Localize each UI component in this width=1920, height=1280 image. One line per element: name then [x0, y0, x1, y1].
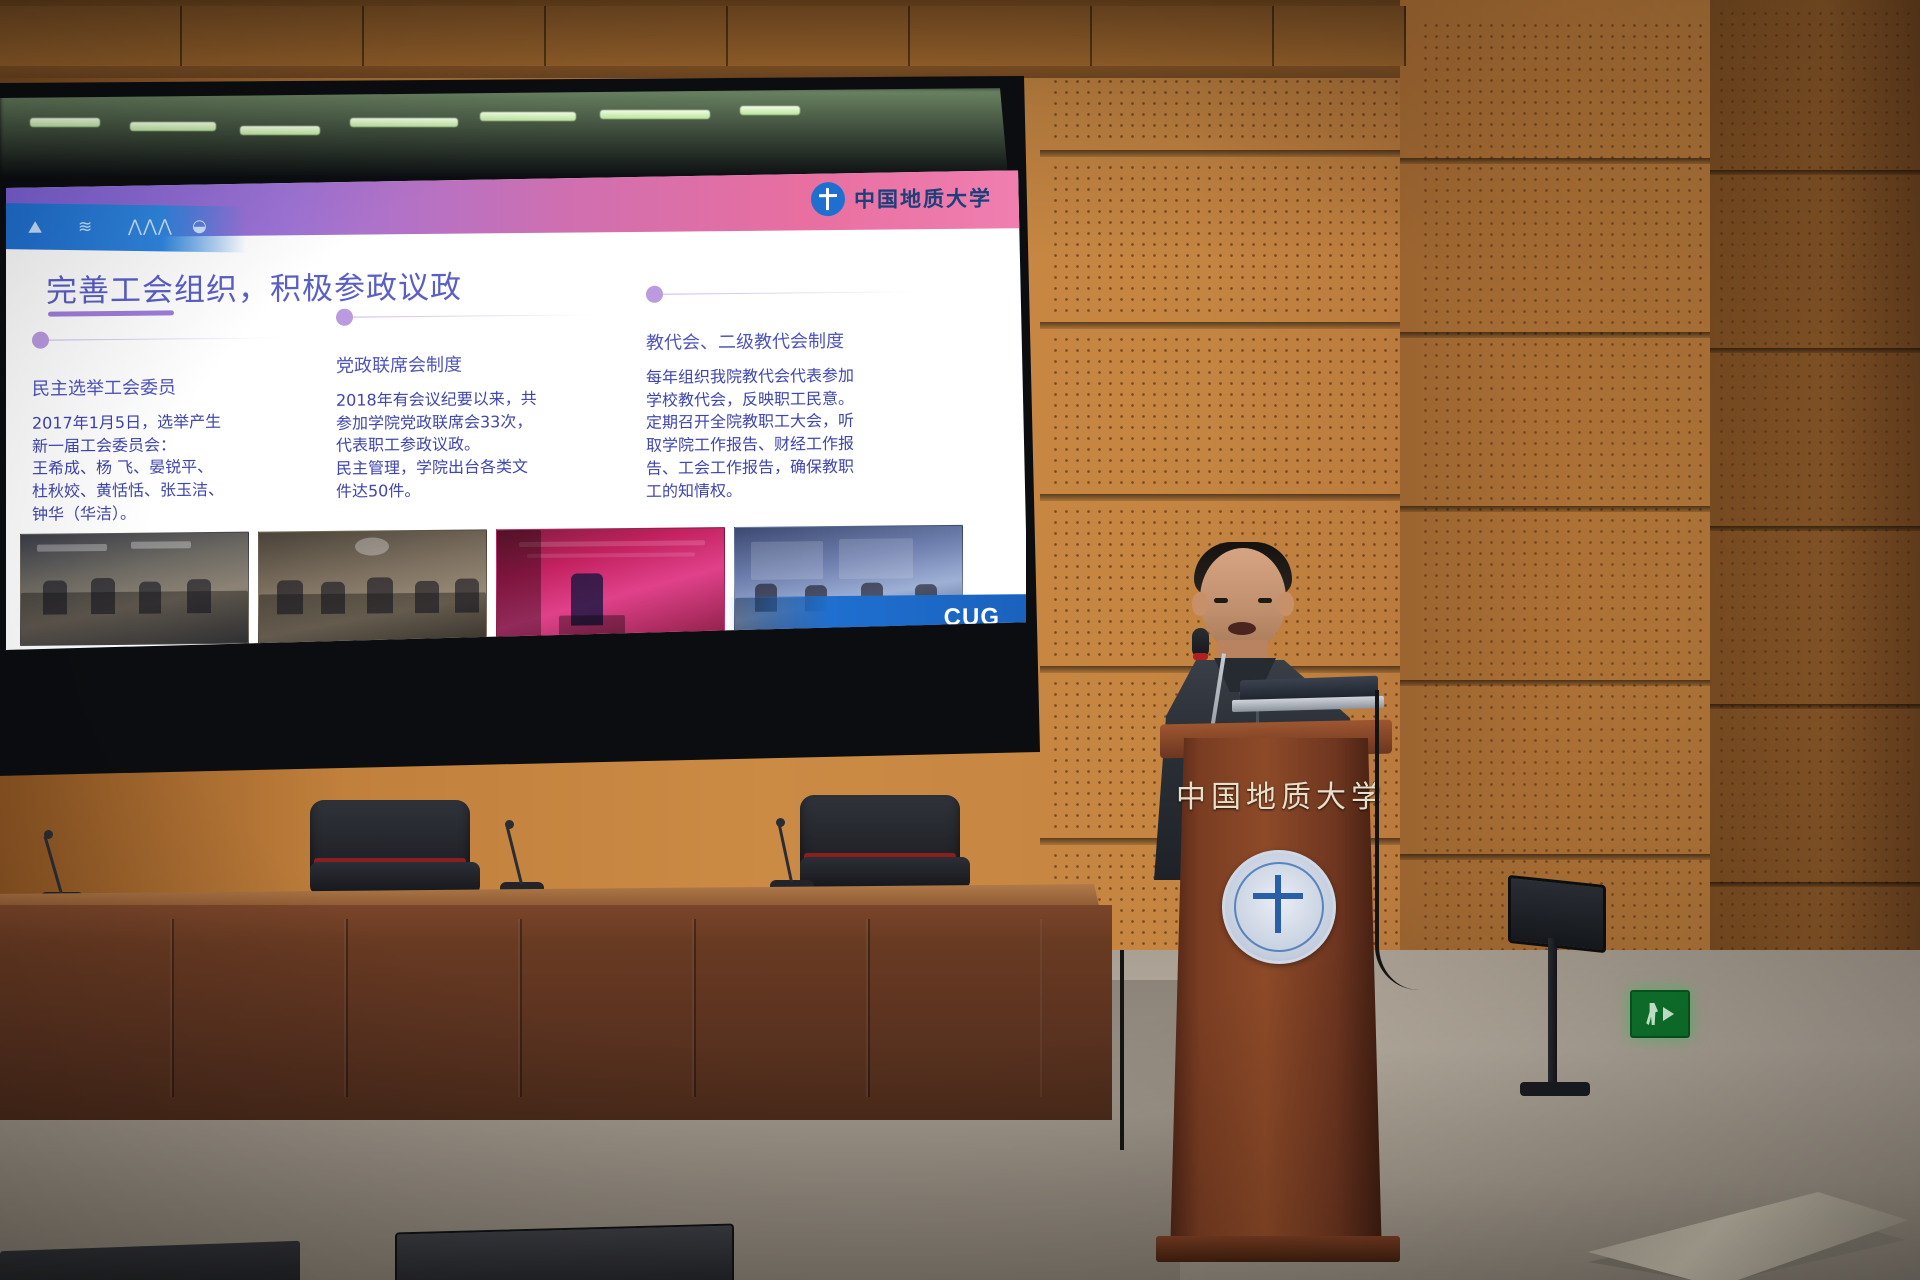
- laptop-keyboard: [1232, 696, 1384, 712]
- head-table-front: [0, 905, 1112, 1120]
- university-name: 中国地质大学: [854, 183, 992, 214]
- column-heading: 民主选举工会委员: [32, 372, 272, 400]
- slide-column-2: 党政联席会制度 2018年有会议纪要以来，共 参加学院党政联席会33次， 代表职…: [336, 307, 576, 504]
- speaker-eye-right: [1258, 598, 1272, 603]
- running-man-exit-icon: [1646, 1003, 1658, 1025]
- chair-seat: [310, 862, 480, 894]
- floor-equipment-case: [395, 1224, 734, 1280]
- cug-circle-mark-icon: [811, 182, 845, 216]
- podium-seal-emblem-icon: [1222, 850, 1336, 964]
- speaker-ear-right: [1278, 592, 1294, 616]
- monitor-screen: [1508, 875, 1606, 953]
- cug-logo: 中国地质大学: [811, 181, 992, 217]
- speaker-eye-left: [1214, 598, 1228, 603]
- title-underline: [48, 310, 174, 316]
- wave-icon: ≋: [78, 217, 93, 237]
- column-heading: 党政联席会制度: [336, 350, 576, 378]
- presentation-slide[interactable]: ⛰ ≋ ⋀⋀⋀ ◒ 中国地质大学 完善工会组织，积极参政议政 民主选举工会委员 …: [6, 170, 1026, 650]
- peaks-icon: ⋀⋀⋀: [128, 216, 173, 236]
- column-body: 每年组织我院教代会代表参加 学校教代会，反映职工民意。 定期召开全院教职工大会，…: [646, 364, 936, 503]
- cable: [1375, 690, 1419, 990]
- presenter-laptop[interactable]: [1232, 678, 1382, 712]
- column-heading: 教代会、二级教代会制度: [646, 326, 936, 355]
- ceiling-light: [600, 110, 710, 119]
- podium-base: [1156, 1236, 1400, 1262]
- monitor-base: [1520, 1082, 1590, 1096]
- exit-sign: [1630, 990, 1690, 1038]
- slide-photo: [20, 532, 249, 646]
- chair-seat: [800, 857, 970, 889]
- ceiling-light: [480, 112, 576, 121]
- slide-photo: [496, 527, 725, 641]
- slide-column-1: 民主选举工会委员 2017年1月5日，选举产生 新一届工会委员会： 王希成、杨 …: [32, 329, 272, 526]
- mic-indicator-ring: [1193, 653, 1208, 660]
- ceiling-light: [30, 118, 100, 127]
- podium-university-name: 中国地质大学: [1176, 772, 1376, 816]
- slide-title: 完善工会组织，积极参政议政: [46, 262, 462, 311]
- bullet-dot-icon: [32, 332, 49, 349]
- ceiling-light: [350, 118, 458, 127]
- mountain-icon: ⛰: [28, 218, 43, 238]
- strata-icon: ◒: [192, 216, 208, 236]
- speaker-mouth: [1228, 622, 1256, 635]
- ceiling-light: [240, 126, 320, 135]
- column-body: 2017年1月5日，选举产生 新一届工会委员会： 王希成、杨 飞、晏锐平、 杜秋…: [32, 410, 272, 526]
- slide-column-3: 教代会、二级教代会制度 每年组织我院教代会代表参加 学校教代会，反映职工民意。 …: [646, 283, 936, 503]
- monitor-stand-arm: [1548, 938, 1557, 1088]
- speaker-ear-left: [1192, 592, 1208, 616]
- bullet-dot-icon: [336, 309, 353, 326]
- ceiling-light: [130, 122, 216, 131]
- bullet-dot-icon: [646, 286, 663, 303]
- conference-hall-scene: ⛰ ≋ ⋀⋀⋀ ◒ 中国地质大学 完善工会组织，积极参政议政 民主选举工会委员 …: [0, 0, 1920, 1280]
- ceiling-light: [740, 106, 800, 115]
- confidence-monitor[interactable]: [1508, 880, 1618, 1130]
- column-body: 2018年有会议纪要以来，共 参加学院党政联席会33次， 代表职工参政议政。 民…: [336, 388, 576, 504]
- arrow-right-icon: [1663, 1007, 1674, 1021]
- ceiling-strip: [0, 0, 1400, 78]
- slide-photo: [258, 529, 487, 643]
